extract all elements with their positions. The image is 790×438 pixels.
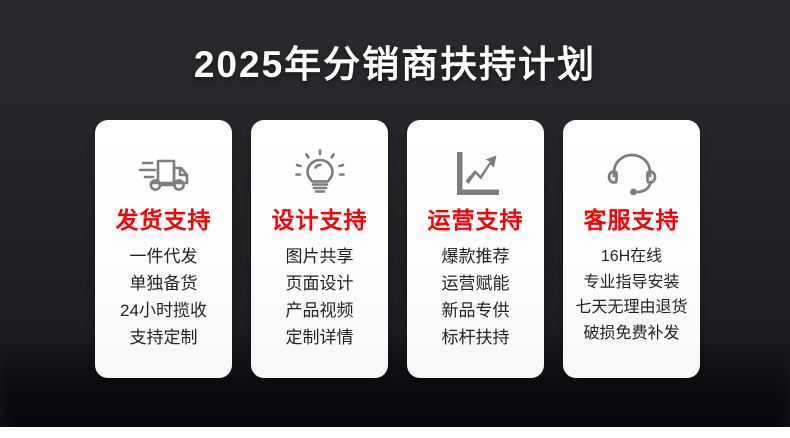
support-card-operations[interactable]: 运营支持 爆款推荐 运营赋能 新品专供 标杆扶持 <box>407 120 544 378</box>
card-item: 新品专供 <box>442 299 510 324</box>
card-item-list: 一件代发 单独备货 24小时揽收 支持定制 <box>120 245 207 351</box>
lightbulb-icon <box>294 142 346 204</box>
card-title: 客服支持 <box>584 208 680 233</box>
card-item: 运营赋能 <box>442 272 510 297</box>
promo-banner: 2025年分销商扶持计划 发货支持 一件代发 <box>0 0 790 438</box>
card-item: 页面设计 <box>286 272 354 297</box>
delivery-truck-icon <box>136 142 192 204</box>
card-item: 一件代发 <box>129 245 197 270</box>
growth-chart-icon <box>449 142 503 204</box>
card-title: 运营支持 <box>428 208 524 233</box>
bottom-white-strip <box>0 427 790 438</box>
support-card-list: 发货支持 一件代发 单独备货 24小时揽收 支持定制 <box>95 120 700 378</box>
support-card-customer-service[interactable]: 客服支持 16H在线 专业指导安装 七天无理由退货 破损免费补发 <box>563 120 700 378</box>
card-title: 设计支持 <box>272 208 368 233</box>
card-item: 七天无理由退货 <box>575 296 687 320</box>
support-card-design[interactable]: 设计支持 图片共享 页面设计 产品视频 定制详情 <box>251 120 388 378</box>
headset-icon <box>605 142 659 204</box>
card-item: 24小时揽收 <box>120 299 207 324</box>
support-card-shipping[interactable]: 发货支持 一件代发 单独备货 24小时揽收 支持定制 <box>95 120 232 378</box>
banner-title: 2025年分销商扶持计划 <box>0 34 790 88</box>
card-item: 破损免费补发 <box>583 322 679 346</box>
card-title: 发货支持 <box>116 208 212 233</box>
card-item: 支持定制 <box>129 326 197 351</box>
card-item-list: 16H在线 专业指导安装 七天无理由退货 破损免费补发 <box>575 245 687 345</box>
card-item: 专业指导安装 <box>583 271 679 295</box>
card-item: 单独备货 <box>129 272 197 297</box>
card-item: 定制详情 <box>286 326 354 351</box>
card-item: 16H在线 <box>601 245 662 269</box>
card-item: 爆款推荐 <box>442 245 510 270</box>
card-item-list: 爆款推荐 运营赋能 新品专供 标杆扶持 <box>442 245 510 351</box>
card-item: 产品视频 <box>286 299 354 324</box>
card-item: 标杆扶持 <box>442 326 510 351</box>
card-item-list: 图片共享 页面设计 产品视频 定制详情 <box>286 245 354 351</box>
card-item: 图片共享 <box>286 245 354 270</box>
